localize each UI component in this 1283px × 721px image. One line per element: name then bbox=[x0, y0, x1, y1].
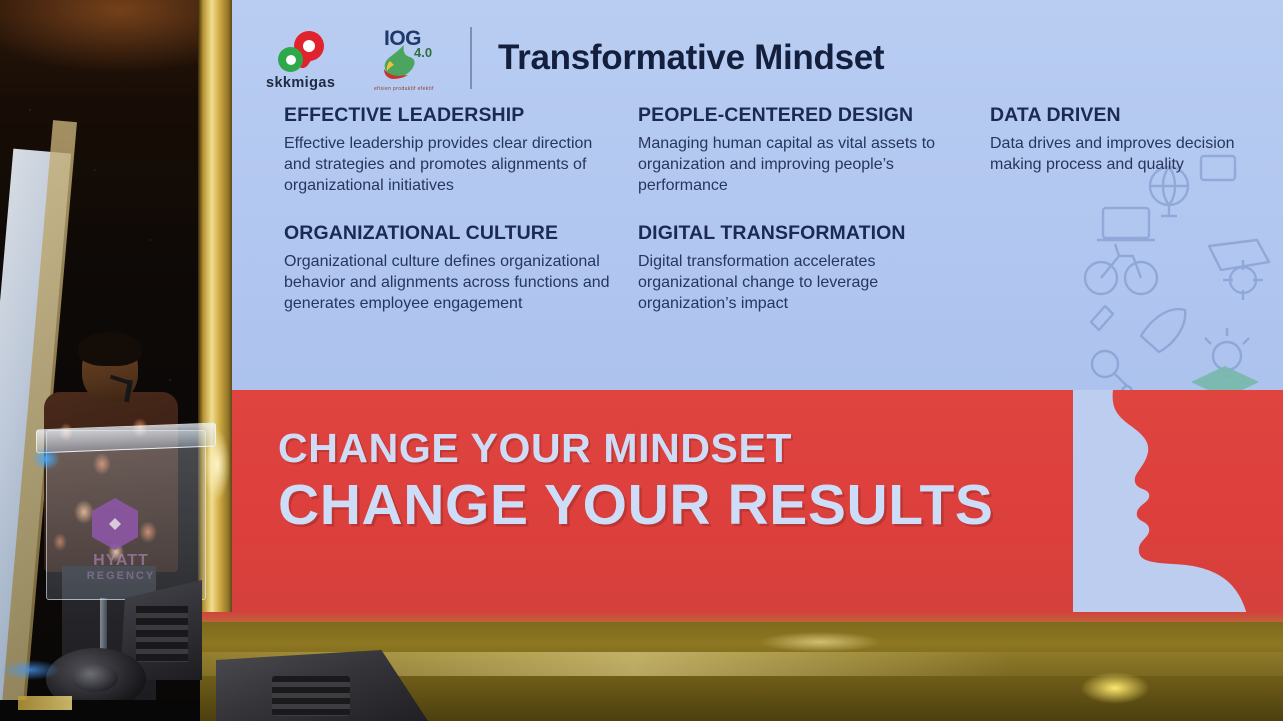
magnifier-icon bbox=[1092, 351, 1118, 377]
head-silhouette bbox=[1073, 390, 1283, 622]
speaker-hair bbox=[78, 332, 142, 366]
block-heading: DIGITAL TRANSFORMATION bbox=[638, 222, 990, 245]
column-2: PEOPLE-CENTERED DESIGN Managing human ca… bbox=[638, 104, 990, 341]
floor-light-glow bbox=[0, 660, 60, 680]
block-body: Data drives and improves decision making… bbox=[990, 134, 1262, 176]
slide-banner: CHANGE YOUR MINDSET CHANGE YOUR RESULTS bbox=[232, 390, 1283, 622]
podium-brand-label: HYATT bbox=[66, 552, 176, 570]
iog-logo: IOG 4.0 efisien produktif efektif bbox=[370, 25, 448, 91]
block-body: Organizational culture defines organizat… bbox=[284, 252, 614, 314]
block-body: Managing human capital as vital assets t… bbox=[638, 134, 968, 196]
block-data-driven: DATA DRIVEN Data drives and improves dec… bbox=[990, 104, 1272, 176]
podium-brand-sub-label: REGENCY bbox=[66, 570, 176, 582]
column-3: DATA DRIVEN Data drives and improves dec… bbox=[990, 104, 1272, 341]
header-divider bbox=[470, 27, 472, 89]
stage-glow-center bbox=[760, 632, 880, 652]
floor-gold-trim bbox=[18, 696, 72, 710]
block-organizational-culture: ORGANIZATIONAL CULTURE Organizational cu… bbox=[284, 222, 644, 314]
block-heading: DATA DRIVEN bbox=[990, 104, 1272, 127]
column-1: EFFECTIVE LEADERSHIP Effective leadershi… bbox=[284, 104, 644, 341]
head-profile-icon bbox=[1073, 390, 1283, 622]
iog-version-label: 4.0 bbox=[414, 45, 432, 60]
slide-content-columns: EFFECTIVE LEADERSHIP Effective leadershi… bbox=[232, 104, 1283, 341]
banner-line-1: CHANGE YOUR MINDSET bbox=[278, 428, 994, 469]
block-body: Digital transformation accelerates organ… bbox=[638, 252, 968, 314]
monitor-grille bbox=[272, 676, 350, 716]
wedge-grille bbox=[136, 606, 188, 662]
block-heading: ORGANIZATIONAL CULTURE bbox=[284, 222, 644, 245]
skkmigas-wordmark: skkmigas bbox=[266, 75, 358, 91]
lightbulb-icon bbox=[1213, 342, 1241, 370]
slide-title: Transformative Mindset bbox=[498, 38, 884, 78]
banner-line-2: CHANGE YOUR RESULTS bbox=[278, 475, 994, 537]
block-heading: EFFECTIVE LEADERSHIP bbox=[284, 104, 644, 127]
iog-tagline: efisien produktif efektif bbox=[374, 86, 434, 92]
location-pin-green-icon bbox=[278, 47, 303, 72]
slide-header: skkmigas IOG 4.0 efisien produktif efekt… bbox=[232, 14, 1283, 102]
presentation-slide: skkmigas IOG 4.0 efisien produktif efekt… bbox=[232, 0, 1283, 622]
stage-scene: skkmigas IOG 4.0 efisien produktif efekt… bbox=[0, 0, 1283, 721]
banner-text-group: CHANGE YOUR MINDSET CHANGE YOUR RESULTS bbox=[278, 428, 994, 537]
skkmigas-logo: skkmigas bbox=[266, 27, 348, 89]
block-body: Effective leadership provides clear dire… bbox=[284, 134, 614, 196]
block-effective-leadership: EFFECTIVE LEADERSHIP Effective leadershi… bbox=[284, 104, 644, 196]
block-people-centered-design: PEOPLE-CENTERED DESIGN Managing human ca… bbox=[638, 104, 990, 196]
stage-glow-right bbox=[1080, 672, 1150, 704]
podium-blue-light bbox=[32, 448, 60, 470]
block-heading: PEOPLE-CENTERED DESIGN bbox=[638, 104, 990, 127]
block-digital-transformation: DIGITAL TRANSFORMATION Digital transform… bbox=[638, 222, 990, 314]
